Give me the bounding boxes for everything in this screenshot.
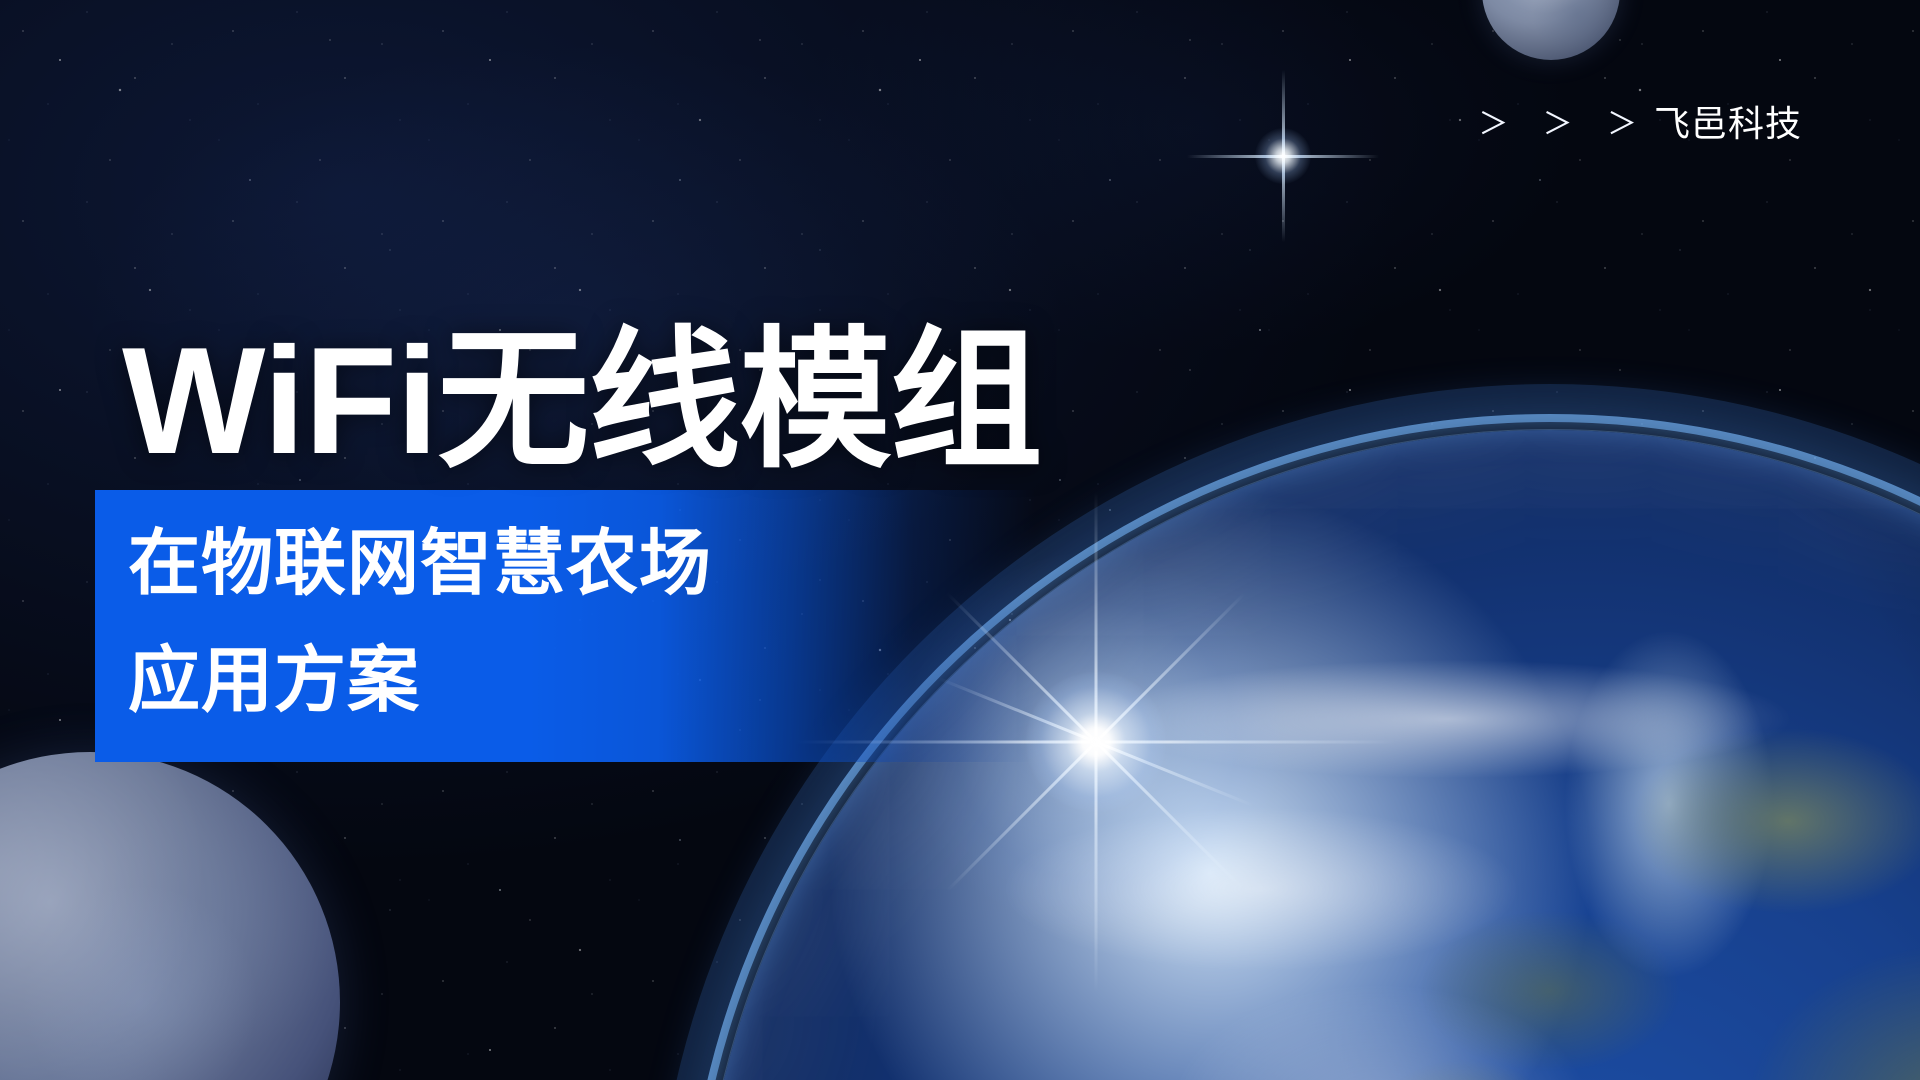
- chevron-right-icon: ＞ ＞ ＞: [1478, 99, 1650, 143]
- brand-name: 飞邑科技: [1654, 95, 1802, 147]
- page-title: WiFi无线模组: [122, 325, 1041, 477]
- subtitle-line-2: 应用方案: [128, 623, 712, 740]
- brand-logo: ＞ ＞ ＞ 飞邑科技: [1478, 95, 1802, 147]
- subtitle-block: 在物联网智慧农场 应用方案: [128, 506, 712, 739]
- star-core-glow: [1255, 128, 1311, 184]
- flare-core: [1026, 672, 1166, 812]
- poster-canvas: ＞ ＞ ＞ 飞邑科技 WiFi无线模组 在物联网智慧农场 应用方案: [0, 0, 1920, 1080]
- subtitle-line-1: 在物联网智慧农场: [128, 506, 712, 623]
